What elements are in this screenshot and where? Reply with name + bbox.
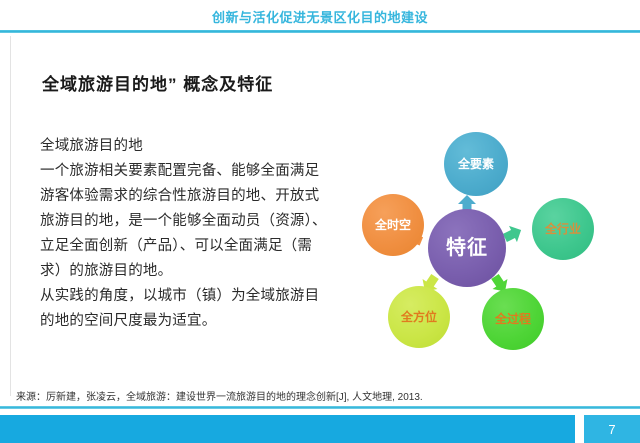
body-text: 全域旅游目的地 一个旅游相关要素配置完备、能够全面满足 游客体验需求的综合性旅游… [40,134,330,334]
diagram-node-quanguocheng[interactable]: 全过程 [482,288,544,350]
diagram-node-label: 全方位 [401,311,437,323]
diagram-node-label: 全过程 [495,313,531,325]
characteristics-diagram: 全要素 全行业 全过程 全方位 全时空 特征 [352,128,632,376]
left-margin-guide [10,36,11,396]
footer-divider [0,406,640,409]
diagram-center-label: 特征 [446,238,488,258]
slide-header: 创新与活化促进无景区化目的地建设 [0,0,640,33]
source-citation: 来源：厉新建，张凌云，全域旅游：建设世界一流旅游目的地的理念创新[J], 人文地… [16,388,423,403]
diagram-node-label: 全行业 [545,223,581,235]
header-title: 创新与活化促进无景区化目的地建设 [0,7,640,26]
diagram-node-quanfangwei[interactable]: 全方位 [388,286,450,348]
body-line: 全域旅游目的地 [40,134,330,159]
diagram-node-quanyaosu[interactable]: 全要素 [444,132,508,196]
body-line: 游客体验需求的综合性旅游目的地、开放式 [40,184,330,209]
diagram-node-quanshikong[interactable]: 全时空 [362,194,424,256]
body-line: 从实践的角度，以城市（镇）为全域旅游目 [40,284,330,309]
body-line: 的地的空间尺度最为适宜。 [40,309,330,334]
diagram-node-label: 全要素 [458,158,494,170]
page-number: 7 [584,415,640,443]
body-line: 一个旅游相关要素配置完备、能够全面满足 [40,159,330,184]
diagram-center-node[interactable]: 特征 [428,209,506,287]
diagram-node-quanhangye[interactable]: 全行业 [532,198,594,260]
body-line: 立足全面创新（产品）、可以全面满足（需 [40,234,330,259]
footer-bar [0,415,575,443]
header-divider [0,30,640,33]
slide-canvas: 创新与活化促进无景区化目的地建设 全域旅游目的地” 概念及特征 全域旅游目的地 … [0,0,640,443]
body-line: 旅游目的地，是一个能够全面动员（资源）、 [40,209,330,234]
body-line: 求）的旅游目的地。 [40,259,330,284]
page-title: 全域旅游目的地” 概念及特征 [42,70,273,95]
diagram-node-label: 全时空 [375,219,411,231]
